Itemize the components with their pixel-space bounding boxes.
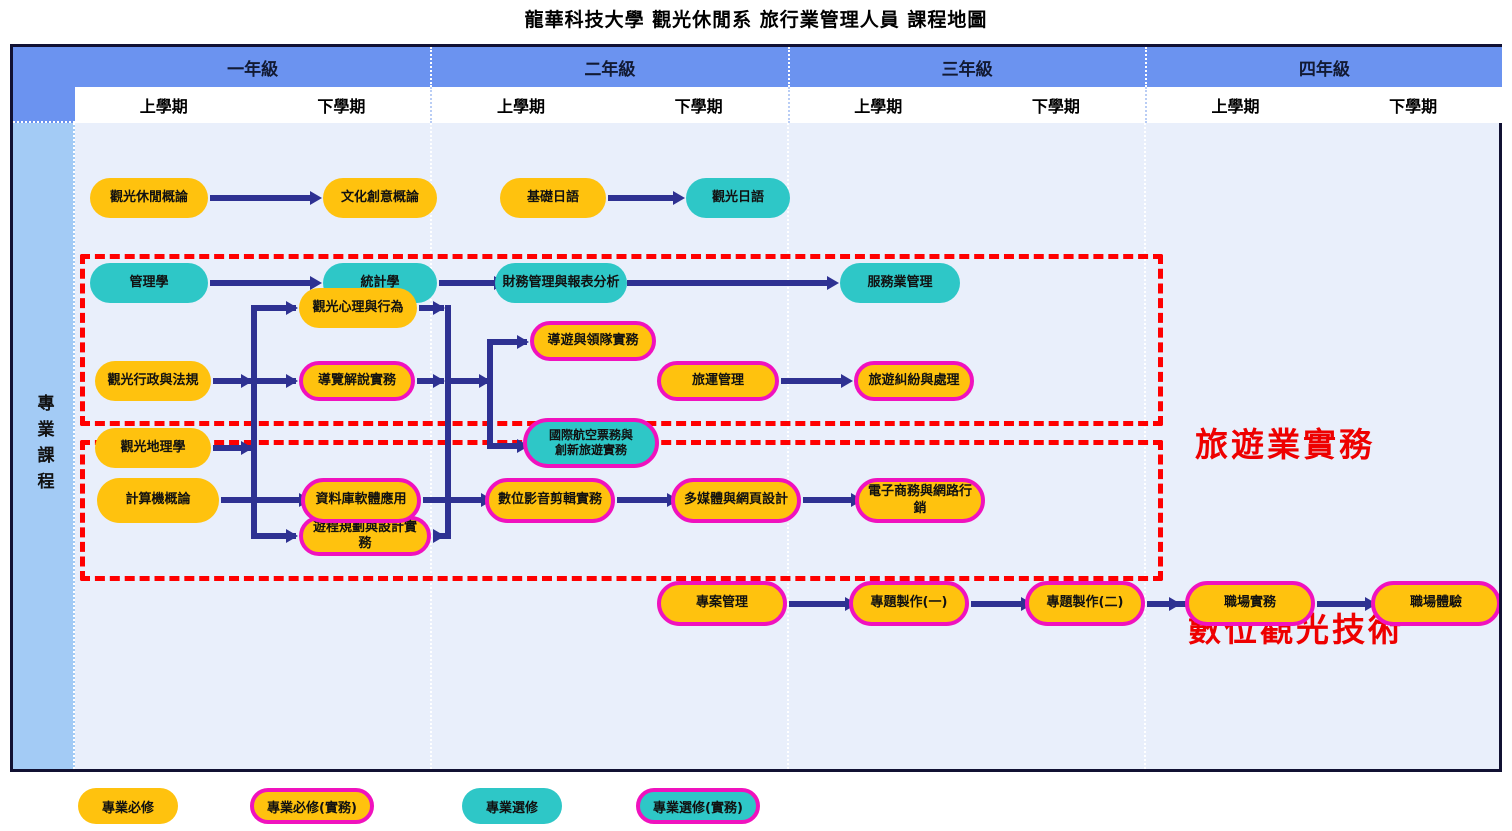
arrowhead-n13-merge — [433, 529, 445, 543]
group-label-tourism-practice: 旅遊業實務 — [1195, 418, 1375, 466]
course-node-n19[interactable]: 資料庫軟體應用 — [301, 478, 421, 523]
legend-item-elective: 專業選修 — [462, 788, 562, 824]
year-header-4: 四年級 — [1147, 47, 1502, 87]
split-bus-vertical — [487, 339, 493, 449]
edge-n19-n20 — [423, 497, 481, 503]
semester-header-2: 下學期 — [253, 87, 433, 123]
edge-n5-n6 — [210, 280, 310, 286]
edge-n26-n27 — [1317, 601, 1365, 607]
legend-item-required: 專業必修 — [78, 788, 178, 824]
arrowhead-split-n14 — [517, 335, 529, 349]
course-node-n16[interactable]: 旅運管理 — [657, 361, 779, 401]
arrowhead-bus-n12 — [286, 374, 298, 388]
arrowhead-n16-n17 — [841, 374, 853, 388]
arrowhead-n12-merge — [433, 374, 445, 388]
course-node-n5[interactable]: 管理學 — [90, 263, 208, 303]
arrowhead-n1-n2 — [310, 191, 322, 205]
year-header-1: 一年級 — [75, 47, 432, 87]
edge-n6-n7 — [439, 280, 494, 286]
semester-header-5: 上學期 — [790, 87, 968, 123]
course-node-n3[interactable]: 基礎日語 — [500, 178, 606, 218]
course-node-n27[interactable]: 職場體驗 — [1371, 581, 1499, 626]
course-node-n24[interactable]: 專題製作(一) — [849, 581, 969, 626]
course-node-n23[interactable]: 專案管理 — [657, 581, 787, 626]
course-node-n7[interactable]: 財務管理與報表分析 — [495, 263, 627, 303]
course-node-n20[interactable]: 數位影音剪輯實務 — [485, 478, 615, 523]
year-header-3: 三年級 — [790, 47, 1147, 87]
edge-n25-n26 — [1147, 601, 1189, 607]
arrowhead-bus-n13 — [286, 529, 298, 543]
edge-n3-n4 — [608, 195, 673, 201]
diagram-canvas: 旅遊業實務 數位觀光技術 觀光休閒概論 文化創意概論 基礎日語 觀光日語 管理學… — [75, 123, 1499, 769]
course-node-n10[interactable]: 觀光地理學 — [95, 428, 211, 468]
arrowhead-n3-n4 — [673, 191, 685, 205]
course-node-n21[interactable]: 多媒體與網頁設計 — [671, 478, 801, 523]
sidebar-category: 專業課程 — [13, 123, 75, 769]
legend-item-elective-practice: 專業選修(實務) — [636, 788, 760, 824]
edge-n1-n2 — [210, 195, 310, 201]
semester-header-4: 下學期 — [610, 87, 790, 123]
course-node-n11[interactable]: 觀光心理與行為 — [299, 288, 417, 328]
arrowhead-n25-n26 — [1169, 597, 1181, 611]
edge-n18-n19 — [221, 497, 299, 503]
edge-n21-n22 — [803, 497, 851, 503]
sidebar-category-label: 專業課程 — [35, 394, 52, 498]
arrowhead-n11-merge — [433, 301, 445, 315]
course-node-n12[interactable]: 導覽解說實務 — [299, 361, 415, 401]
edge-n20-n21 — [617, 497, 667, 503]
legend: 專業必修 專業必修(實務) 專業選修 專業選修(實務) — [10, 782, 1502, 830]
header-corner-cell — [13, 47, 75, 87]
edge-n24-n25 — [971, 601, 1021, 607]
semester-header-8: 下學期 — [1324, 87, 1502, 123]
arrowhead-n9-bus — [241, 374, 253, 388]
course-node-n25[interactable]: 專題製作(二) — [1025, 581, 1145, 626]
course-node-n1[interactable]: 觀光休閒概論 — [90, 178, 208, 218]
course-node-n22[interactable]: 電子商務與網路行銷 — [855, 478, 985, 523]
edge-n7-n8 — [627, 280, 827, 286]
year-header-2: 二年級 — [432, 47, 789, 87]
semester-header-corner — [13, 87, 75, 123]
legend-item-required-practice: 專業必修(實務) — [250, 788, 374, 824]
semester-header-3: 上學期 — [432, 87, 610, 123]
edge-n16-n17 — [781, 378, 841, 384]
course-node-n2[interactable]: 文化創意概論 — [323, 178, 437, 218]
course-node-n8[interactable]: 服務業管理 — [840, 263, 960, 303]
course-node-n9[interactable]: 觀光行政與法規 — [95, 361, 211, 401]
course-node-n26[interactable]: 職場實務 — [1185, 581, 1315, 626]
arrowhead-bus-n11 — [286, 301, 298, 315]
semester-header-7: 上學期 — [1147, 87, 1325, 123]
course-node-n18[interactable]: 計算機概論 — [97, 478, 219, 523]
edge-n23-n24 — [789, 601, 845, 607]
arrowhead-n7-n8 — [827, 276, 839, 290]
course-node-n4[interactable]: 觀光日語 — [686, 178, 790, 218]
page-title: 龍華科技大學 觀光休閒系 旅行業管理人員 課程地圖 — [0, 5, 1512, 32]
course-map-frame: 一年級 二年級 三年級 四年級 上學期 下學期 上學期 下學期 上學期 下學期 … — [10, 44, 1502, 772]
bus-vertical-left — [251, 305, 257, 539]
arrowhead-merge-split — [479, 374, 491, 388]
course-node-n15[interactable]: 國際航空票務與創新旅遊實務 — [523, 418, 659, 468]
course-node-n14[interactable]: 導遊與領隊實務 — [530, 321, 656, 361]
course-node-n17[interactable]: 旅遊糾紛與處理 — [854, 361, 974, 401]
semester-header-row: 上學期 下學期 上學期 下學期 上學期 下學期 上學期 下學期 — [75, 87, 1502, 123]
merge-bus-vertical — [445, 305, 451, 539]
year-header-row: 一年級 二年級 三年級 四年級 — [75, 47, 1502, 87]
semester-header-6: 下學期 — [967, 87, 1147, 123]
arrowhead-n10-bus — [241, 441, 253, 455]
semester-header-1: 上學期 — [75, 87, 253, 123]
